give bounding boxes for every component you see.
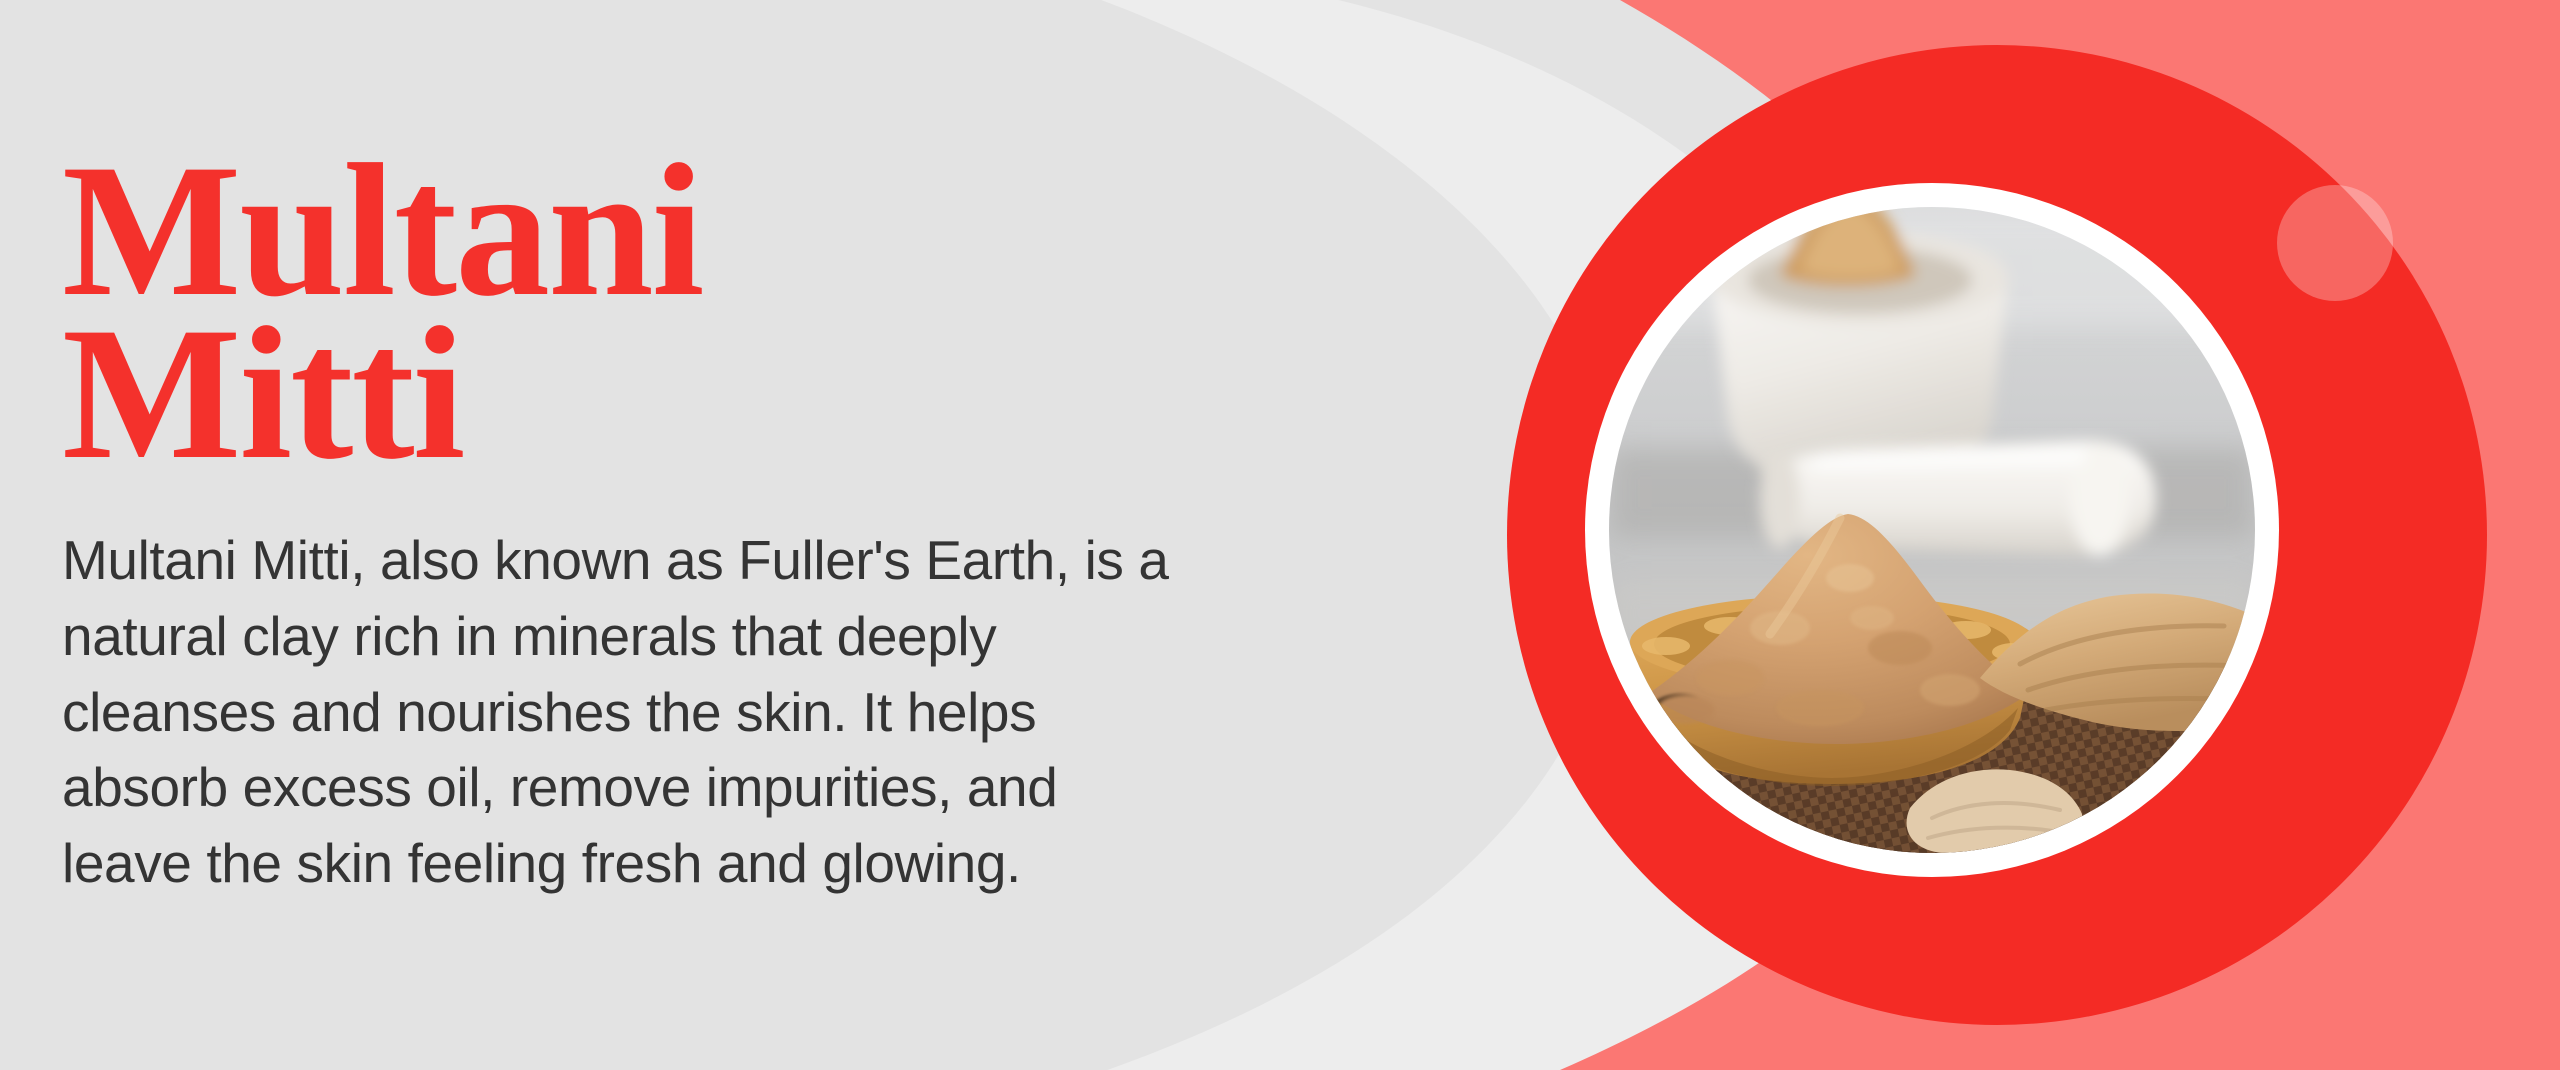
hero-circle [1480,18,2515,1053]
hero-graphic [1480,18,2515,1053]
product-banner: Multani Mitti Multani Mitti, also known … [0,0,2560,1070]
text-column: Multani Mitti Multani Mitti, also known … [62,150,1212,902]
body-description: Multani Mitti, also known as Fuller's Ea… [62,523,1182,902]
accent-circle [2277,185,2393,301]
page-title: Multani Mitti [62,150,1212,477]
